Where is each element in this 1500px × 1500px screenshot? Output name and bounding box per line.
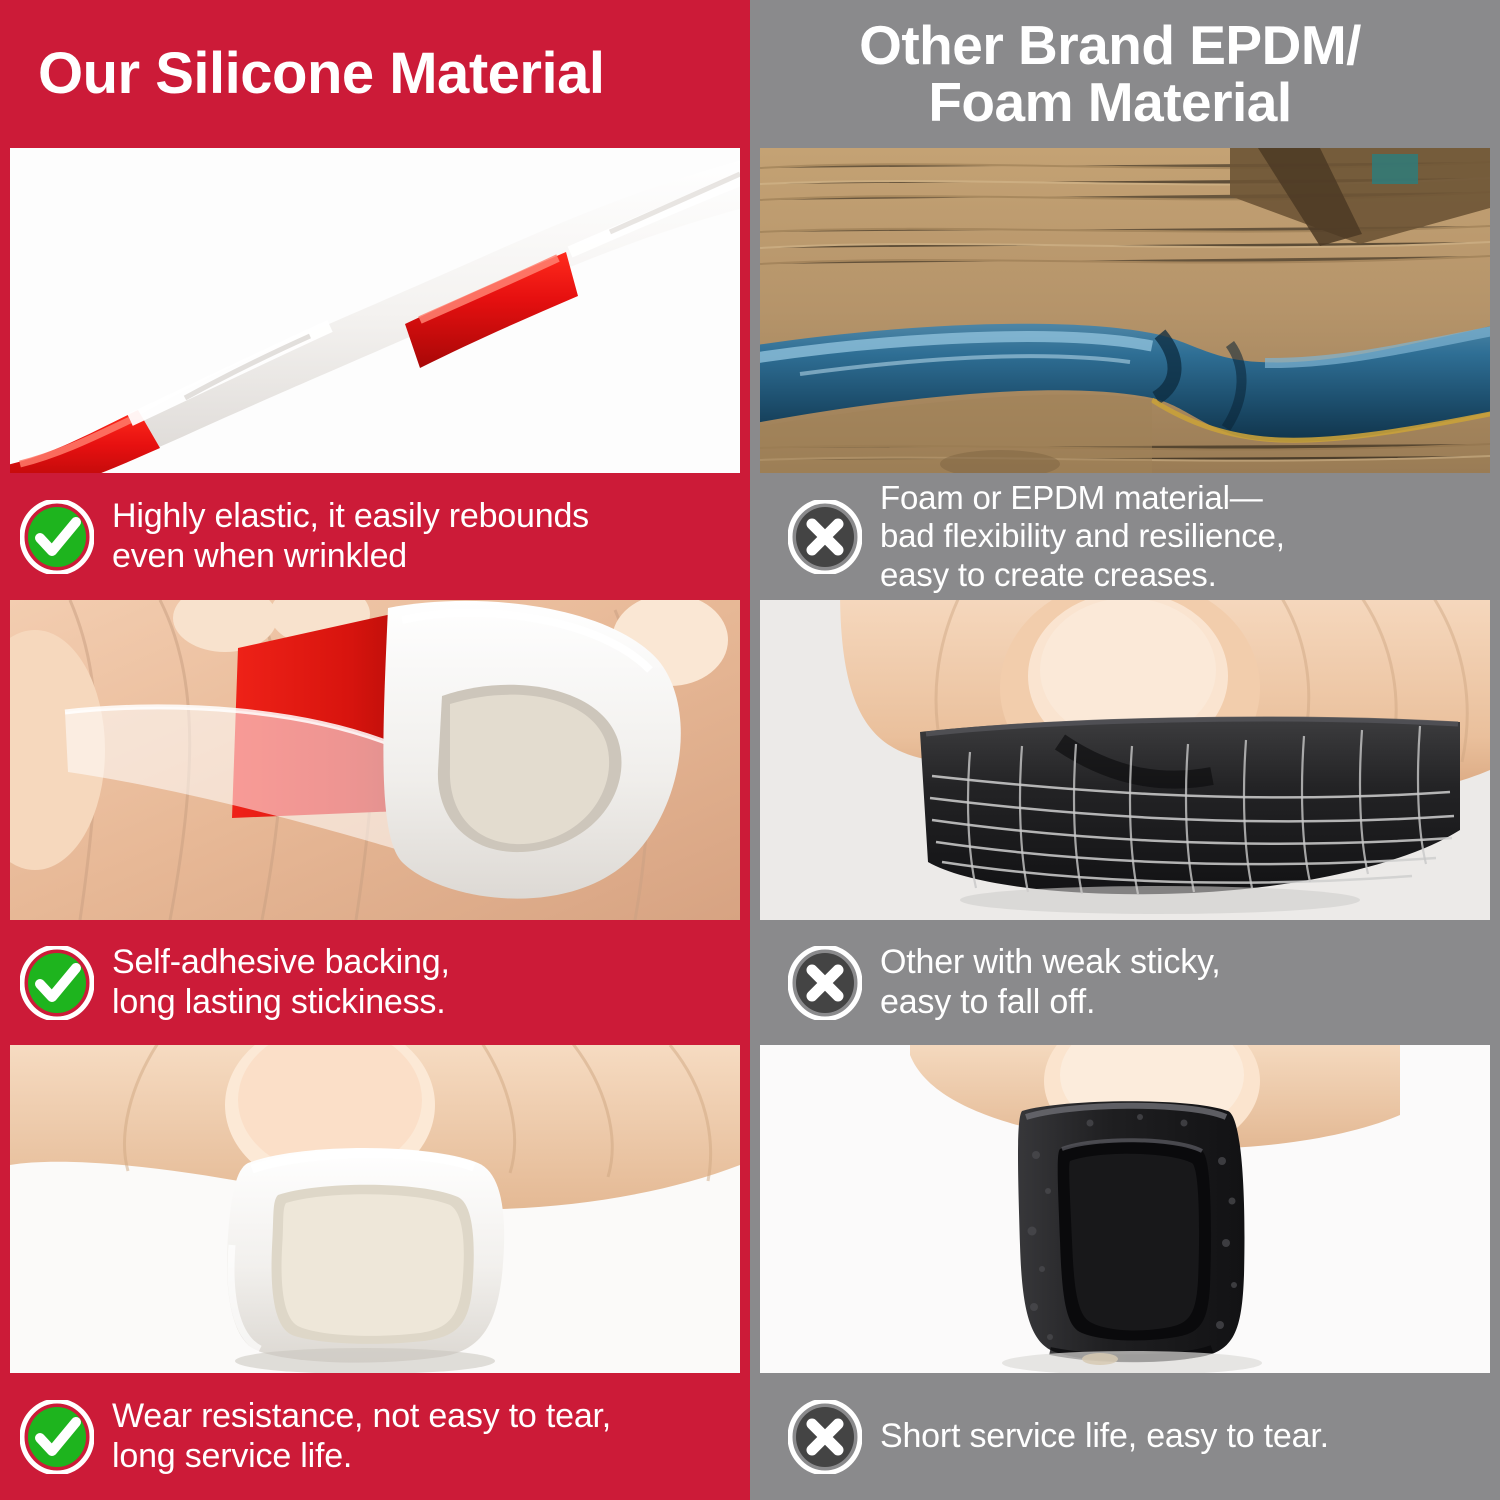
twisted-silicone-strip-photo [10, 148, 740, 473]
black-foam-strip-thumb-photo [760, 600, 1490, 920]
cross-icon [788, 946, 862, 1020]
right-caption-3-text: Short service life, easy to tear. [880, 1417, 1329, 1457]
left-caption-3-text: Wear resistance, not easy to tear, long … [112, 1397, 611, 1477]
right-caption-1-text: Foam or EPDM material— bad flexibility a… [880, 479, 1285, 595]
left-caption-1: Highly elastic, it easily rebounds even … [0, 473, 750, 600]
left-column-our-product: Our Silicone Material [0, 0, 750, 1500]
left-caption-2: Self-adhesive backing, long lasting stic… [0, 920, 750, 1045]
check-icon [20, 1400, 94, 1474]
cross-icon [788, 500, 862, 574]
right-caption-1: Foam or EPDM material— bad flexibility a… [750, 473, 1500, 600]
right-header-title: Other Brand EPDM/ Foam Material [859, 17, 1361, 131]
right-column-header: Other Brand EPDM/ Foam Material [750, 0, 1500, 148]
left-caption-1-text: Highly elastic, it easily rebounds even … [112, 497, 589, 577]
left-header-title: Our Silicone Material [38, 44, 604, 104]
silicone-d-seal-squeeze-photo [10, 1045, 740, 1373]
check-icon [20, 946, 94, 1020]
right-caption-2: Other with weak sticky, easy to fall off… [750, 920, 1500, 1045]
comparison-infographic: Our Silicone Material [0, 0, 1500, 1500]
left-caption-2-text: Self-adhesive backing, long lasting stic… [112, 943, 450, 1023]
right-column-other-brand: Other Brand EPDM/ Foam Material [750, 0, 1500, 1500]
left-caption-3: Wear resistance, not easy to tear, long … [0, 1373, 750, 1500]
peeling-adhesive-liner-photo [10, 600, 740, 920]
cross-icon [788, 1400, 862, 1474]
creased-blue-epdm-strip-photo [760, 148, 1490, 473]
check-icon [20, 500, 94, 574]
right-caption-3: Short service life, easy to tear. [750, 1373, 1500, 1500]
right-caption-2-text: Other with weak sticky, easy to fall off… [880, 943, 1221, 1023]
black-foam-u-channel-photo [760, 1045, 1490, 1373]
left-column-header: Our Silicone Material [0, 0, 750, 148]
